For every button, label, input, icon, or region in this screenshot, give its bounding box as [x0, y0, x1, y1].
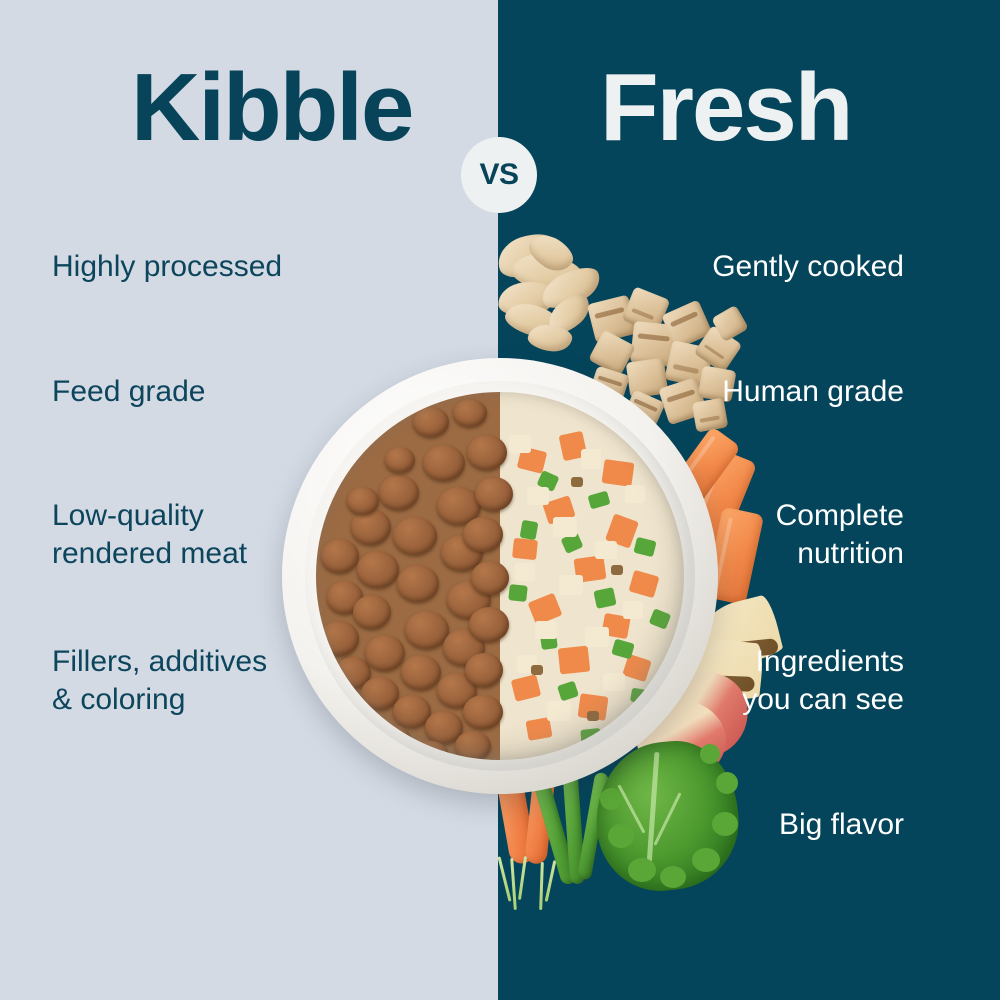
vs-badge: VS	[461, 137, 537, 213]
kibble-feature-1: Feed grade	[52, 373, 205, 411]
headline-kibble: Kibble	[131, 55, 412, 161]
kibble-feature-2: Low-quality rendered meat	[52, 497, 247, 573]
fresh-feature-0: Gently cooked	[592, 248, 904, 286]
headline-fresh: Fresh	[600, 55, 851, 161]
fresh-feature-2: Complete nutrition	[592, 497, 904, 573]
fresh-feature-4: Big flavor	[592, 806, 904, 844]
headline: Kibble VS Fresh	[0, 55, 1000, 165]
kibble-feature-3: Fillers, additives & coloring	[52, 643, 267, 719]
comparison-infographic: Kibble VS Fresh Highly processed Feed gr…	[0, 0, 1000, 1000]
vs-badge-label: VS	[479, 158, 518, 192]
fresh-feature-3: Ingredients you can see	[592, 643, 904, 719]
fresh-feature-1: Human grade	[592, 373, 904, 411]
kibble-feature-0: Highly processed	[52, 248, 282, 286]
